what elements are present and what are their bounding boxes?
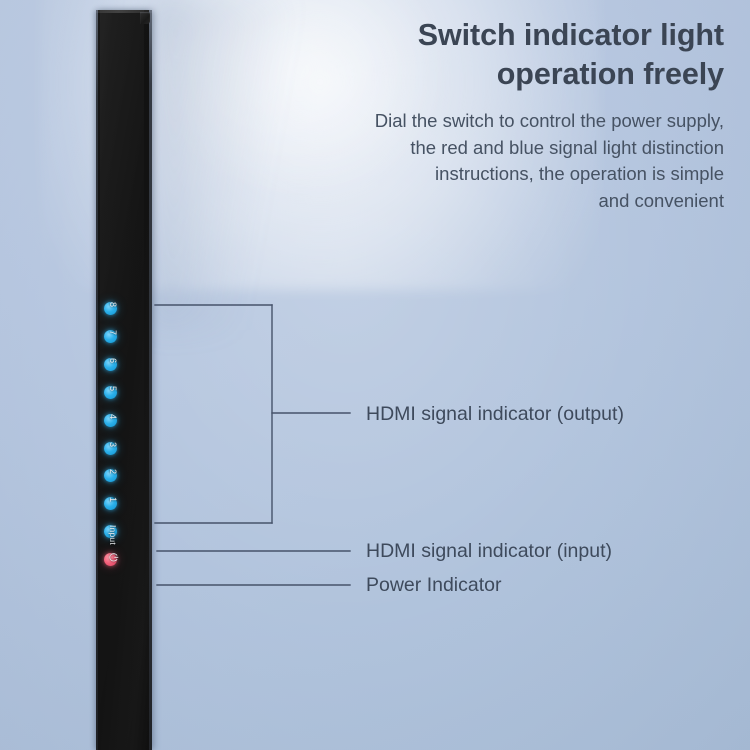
product-feature-image: 8 7 6 5 4 3 2 1 [0,0,750,750]
page-title: Switch indicator light operation freely [304,16,724,94]
callout-label-hdmi-input: HDMI signal indicator (input) [366,540,612,563]
hdmi-switch-faceplate: 8 7 6 5 4 3 2 1 [96,10,152,750]
callout-label-power-indicator: Power Indicator [366,574,501,597]
led-label-6: 6 [106,358,120,372]
body-line-2: the red and blue signal light distinctio… [410,137,724,158]
marketing-copy-block: Switch indicator light operation freely … [304,16,724,215]
led-row-2: 2 [96,469,152,485]
body-line-1: Dial the switch to control the power sup… [375,110,724,131]
led-row-3: 3 [96,442,152,458]
led-row-input: Input [96,525,152,541]
led-row-6: 6 [96,358,152,374]
faceplate-sheen [100,10,144,750]
led-label-1: 1 [106,497,120,511]
led-row-4: 4 [96,414,152,430]
headline-line-2: operation freely [497,57,724,91]
headline-line-1: Switch indicator light [418,18,724,52]
faceplate-right-bevel [149,10,152,750]
led-label-7: 7 [106,330,120,344]
body-line-4: and convenient [599,190,725,211]
led-row-7: 7 [96,330,152,346]
led-label-4: 4 [106,414,120,428]
led-label-2: 2 [106,469,120,483]
led-label-3: 3 [106,442,120,456]
faceplate-left-bevel [96,10,98,750]
led-label-8: 8 [106,302,120,316]
faceplate-corner-screw [140,12,150,24]
led-label-5: 5 [106,386,120,400]
led-row-1: 1 [96,497,152,513]
led-row-5: 5 [96,386,152,402]
led-row-power: ⏻ [96,553,152,569]
power-symbol-icon: ⏻ [106,553,120,567]
callout-label-hdmi-output: HDMI signal indicator (output) [366,403,624,426]
body-paragraph: Dial the switch to control the power sup… [304,108,724,215]
led-row-8: 8 [96,302,152,318]
led-label-input: Input [106,525,120,539]
body-line-3: instructions, the operation is simple [435,163,724,184]
